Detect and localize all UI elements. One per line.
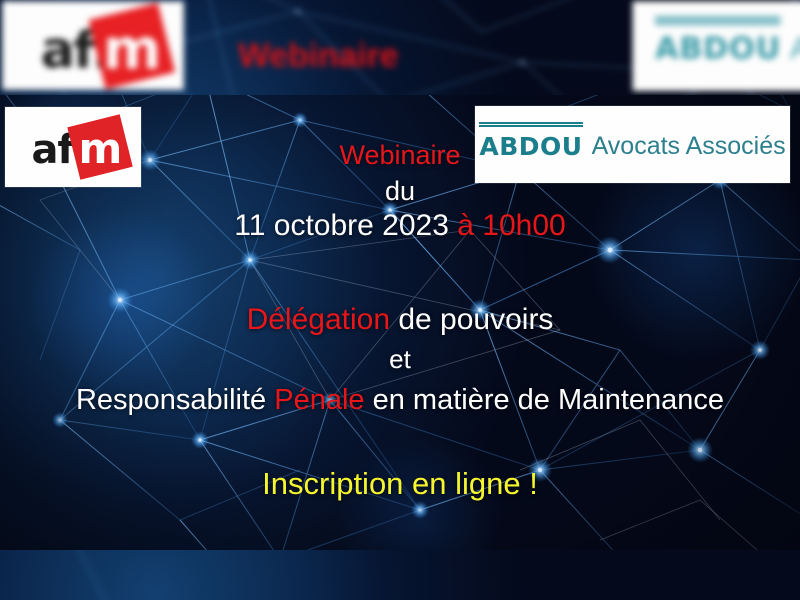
topic-delegation-highlight: Délégation (247, 303, 390, 336)
afim-logo-inner: afi m (5, 107, 141, 187)
headline-date-time: 11 octobre 2023 à 10h00 (0, 209, 800, 243)
topic-line-1: Délégation de pouvoirs (0, 303, 800, 337)
cta-inscription[interactable]: Inscription en ligne ! (0, 466, 800, 502)
abdou-logo[interactable]: ABDOU Avocats Associés (475, 106, 790, 183)
topic-et-text: et (389, 344, 411, 374)
topic-line-3: Responsabilité Pénale en matière de Main… (0, 384, 800, 417)
topic-line-2: et (0, 344, 800, 375)
headline-webinaire-text: Webinaire (339, 140, 460, 170)
headline-time-text: à 10h00 (457, 209, 565, 242)
topic-line-3-pre: Responsabilité (76, 384, 274, 416)
abdou-tagline-text: Avocats Associés (592, 134, 786, 159)
abdou-logo-inner: ABDOU Avocats Associés (475, 106, 790, 183)
topic-line-1-rest: de pouvoirs (390, 303, 553, 336)
topic-line-3-post: en matière de Maintenance (365, 384, 725, 416)
headline-date-text: 11 octobre 2023 (234, 209, 449, 242)
webinar-poster: Webinaire du 11 octobre 2023 à 10h00 Dél… (0, 0, 800, 600)
abdou-double-rule-icon (479, 122, 582, 127)
headline-du-text: du (385, 176, 415, 206)
afim-logo-m-letter: m (79, 128, 123, 170)
afim-logo[interactable]: afi m (5, 107, 141, 187)
afim-diamond-mark-icon: m (67, 114, 132, 179)
abdou-brand-text: ABDOU (479, 132, 582, 161)
topic-penale-highlight: Pénale (274, 384, 364, 416)
cta-inscription-label[interactable]: Inscription en ligne ! (262, 466, 538, 501)
poster-content: Webinaire du 11 octobre 2023 à 10h00 Dél… (0, 0, 800, 600)
abdou-brand-mark: ABDOU (479, 134, 582, 160)
